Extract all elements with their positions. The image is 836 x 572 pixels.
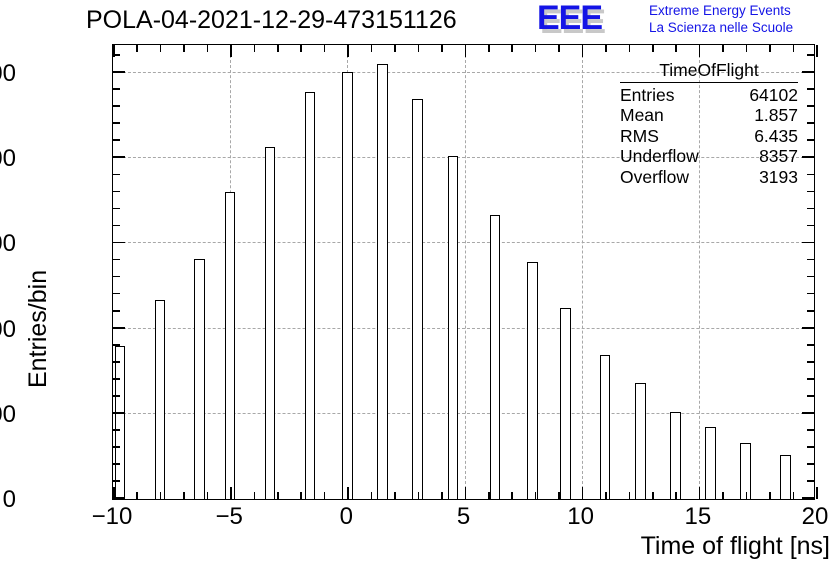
axis-tick xyxy=(807,361,814,363)
stats-title: TimeOfFlight xyxy=(614,60,804,82)
axis-tick xyxy=(802,412,814,414)
axis-tick xyxy=(113,105,120,107)
y-tick-label: 0 xyxy=(3,488,16,512)
axis-tick xyxy=(113,446,120,448)
axis-tick xyxy=(769,45,771,52)
axis-tick xyxy=(113,463,120,465)
axis-tick xyxy=(113,191,120,193)
stats-value: 6.435 xyxy=(754,126,798,147)
axis-tick xyxy=(605,45,607,52)
axis-tick xyxy=(807,105,814,107)
y-tick-label: 2000 xyxy=(0,318,16,342)
axis-tick xyxy=(652,492,654,499)
axis-tick xyxy=(113,310,120,312)
histogram-bar xyxy=(194,259,205,499)
stats-key: Mean xyxy=(620,105,664,126)
histogram-bar xyxy=(600,355,611,499)
axis-tick xyxy=(113,497,125,499)
axis-tick xyxy=(371,492,373,499)
axis-tick xyxy=(807,191,814,193)
y-tick-label: 4000 xyxy=(0,147,16,171)
axis-tick xyxy=(746,492,748,499)
axis-tick xyxy=(769,492,771,499)
histogram-bar xyxy=(635,383,646,499)
axis-tick xyxy=(230,487,232,499)
eee-logo-tagline: Extreme Energy Events La Scienza nelle S… xyxy=(649,3,835,37)
axis-tick xyxy=(183,492,185,499)
eee-tagline-line2: La Scienza nelle Scuole xyxy=(649,20,835,37)
stats-value: 64102 xyxy=(749,85,798,106)
axis-tick xyxy=(113,429,120,431)
stats-value: 3193 xyxy=(759,167,798,188)
histogram-bar xyxy=(115,346,126,499)
axis-tick xyxy=(277,45,279,52)
axis-tick xyxy=(558,45,560,52)
stats-key: Overflow xyxy=(620,167,689,188)
histogram-bar xyxy=(740,443,751,499)
histogram-bar xyxy=(705,427,716,499)
stats-row: Mean1.857 xyxy=(614,105,804,126)
stats-key: RMS xyxy=(620,126,659,147)
axis-tick xyxy=(722,492,724,499)
axis-tick xyxy=(113,122,120,124)
axis-tick xyxy=(807,344,814,346)
axis-tick xyxy=(511,492,513,499)
root-canvas: POLA-04-2021-12-29-473151126 EEE Extreme… xyxy=(0,0,836,572)
axis-tick xyxy=(113,71,125,73)
axis-tick xyxy=(441,492,443,499)
axis-tick xyxy=(136,492,138,499)
stats-divider xyxy=(620,82,798,83)
axis-tick xyxy=(277,492,279,499)
axis-tick xyxy=(113,259,120,261)
axis-tick xyxy=(160,492,162,499)
x-tick-label: 0 xyxy=(306,504,386,530)
stats-key: Underflow xyxy=(620,146,699,167)
histogram-bar xyxy=(305,92,316,499)
axis-tick xyxy=(113,242,125,244)
axis-tick xyxy=(807,480,814,482)
axis-tick xyxy=(418,492,420,499)
axis-tick xyxy=(807,208,814,210)
stats-row: Underflow8357 xyxy=(614,146,804,167)
axis-tick xyxy=(113,156,125,158)
histogram-bar xyxy=(225,192,236,499)
stats-row: Overflow3193 xyxy=(614,167,804,188)
axis-tick xyxy=(582,45,584,57)
axis-tick xyxy=(807,395,814,397)
stats-value: 8357 xyxy=(759,146,798,167)
axis-tick xyxy=(371,45,373,52)
x-tick-label: −5 xyxy=(189,504,269,530)
axis-tick xyxy=(347,487,349,499)
stats-rows: Entries64102Mean1.857RMS6.435Underflow83… xyxy=(614,85,804,188)
axis-tick xyxy=(807,276,814,278)
axis-tick xyxy=(558,492,560,499)
axis-tick xyxy=(807,378,814,380)
axis-tick xyxy=(807,174,814,176)
axis-tick xyxy=(699,45,701,57)
axis-tick xyxy=(113,293,120,295)
histogram-bar xyxy=(342,72,353,499)
axis-tick xyxy=(488,492,490,499)
axis-tick xyxy=(816,487,818,499)
axis-tick xyxy=(465,45,467,57)
axis-tick xyxy=(807,463,814,465)
histogram-bar xyxy=(490,215,501,499)
axis-tick xyxy=(113,487,115,499)
axis-tick xyxy=(113,395,120,397)
axis-tick xyxy=(207,492,209,499)
eee-logo: EEE Extreme Energy Events La Scienza nel… xyxy=(537,2,835,36)
axis-tick xyxy=(535,492,537,499)
axis-tick xyxy=(113,276,120,278)
y-tick-label: 5000 xyxy=(0,62,16,86)
axis-tick xyxy=(324,492,326,499)
page-title: POLA-04-2021-12-29-473151126 xyxy=(86,4,556,36)
x-tick-label: −10 xyxy=(72,504,152,530)
axis-tick xyxy=(652,45,654,52)
axis-tick xyxy=(113,225,120,227)
axis-tick xyxy=(629,492,631,499)
axis-tick xyxy=(113,208,120,210)
axis-tick xyxy=(300,492,302,499)
histogram-bar xyxy=(560,308,571,499)
axis-tick xyxy=(816,45,818,57)
y-axis-title-text: Entries/bin xyxy=(24,270,53,388)
y-tick-label: 3000 xyxy=(0,232,16,256)
axis-tick xyxy=(113,88,120,90)
axis-tick xyxy=(807,139,814,141)
axis-tick xyxy=(113,480,120,482)
histogram-bar xyxy=(527,262,538,499)
histogram-bar xyxy=(670,412,681,499)
axis-tick xyxy=(418,45,420,52)
histogram-bar xyxy=(780,455,791,499)
x-tick-label: 15 xyxy=(658,504,738,530)
axis-tick xyxy=(807,54,814,56)
stats-value: 1.857 xyxy=(754,105,798,126)
axis-tick xyxy=(722,45,724,52)
histogram-bar xyxy=(448,156,459,499)
y-tick-label: 1000 xyxy=(0,403,16,427)
axis-tick xyxy=(113,45,115,57)
axis-tick xyxy=(441,45,443,52)
axis-tick xyxy=(465,487,467,499)
axis-tick xyxy=(254,45,256,52)
stats-row: RMS6.435 xyxy=(614,126,804,147)
axis-tick xyxy=(113,139,120,141)
axis-tick xyxy=(207,45,209,52)
axis-tick xyxy=(160,45,162,52)
axis-tick xyxy=(605,492,607,499)
axis-tick xyxy=(793,492,795,499)
axis-tick xyxy=(113,412,125,414)
axis-tick xyxy=(230,45,232,57)
axis-tick xyxy=(324,45,326,52)
axis-tick xyxy=(807,429,814,431)
axis-tick xyxy=(347,45,349,57)
axis-tick xyxy=(807,310,814,312)
axis-tick xyxy=(807,293,814,295)
eee-tagline-line1: Extreme Energy Events xyxy=(649,3,835,20)
stats-box: TimeOfFlight Entries64102Mean1.857RMS6.4… xyxy=(614,60,804,187)
axis-tick xyxy=(511,45,513,52)
axis-tick xyxy=(582,487,584,499)
histogram-bar xyxy=(155,300,166,499)
axis-tick xyxy=(675,492,677,499)
axis-tick xyxy=(488,45,490,52)
axis-tick xyxy=(535,45,537,52)
x-tick-label: 5 xyxy=(424,504,504,530)
axis-tick xyxy=(807,225,814,227)
histogram-bar xyxy=(377,64,388,499)
axis-tick xyxy=(699,487,701,499)
axis-tick xyxy=(113,361,120,363)
axis-tick xyxy=(254,492,256,499)
axis-tick xyxy=(793,45,795,52)
eee-logo-letters: EEE xyxy=(537,2,643,34)
x-tick-label: 20 xyxy=(775,504,836,530)
axis-tick xyxy=(394,45,396,52)
axis-tick xyxy=(629,45,631,52)
axis-tick xyxy=(113,344,120,346)
axis-tick xyxy=(300,45,302,52)
axis-tick xyxy=(113,174,120,176)
axis-tick xyxy=(807,88,814,90)
x-tick-label: 10 xyxy=(541,504,621,530)
stats-key: Entries xyxy=(620,85,674,106)
axis-tick xyxy=(746,45,748,52)
histogram-bar xyxy=(265,147,276,499)
axis-tick xyxy=(675,45,677,52)
axis-tick xyxy=(183,45,185,52)
axis-tick xyxy=(807,446,814,448)
axis-tick xyxy=(802,242,814,244)
axis-tick xyxy=(394,492,396,499)
axis-tick xyxy=(807,259,814,261)
stats-row: Entries64102 xyxy=(614,85,804,106)
histogram-bar xyxy=(412,99,423,499)
axis-tick xyxy=(807,122,814,124)
axis-tick xyxy=(802,327,814,329)
x-axis-title: Time of flight [ns] xyxy=(430,530,830,562)
axis-tick xyxy=(802,497,814,499)
axis-tick xyxy=(113,378,120,380)
axis-tick xyxy=(113,327,125,329)
axis-tick xyxy=(136,45,138,52)
